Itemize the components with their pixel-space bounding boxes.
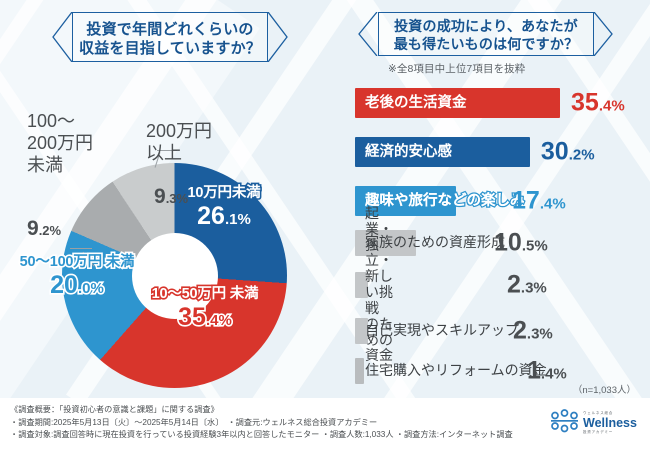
pie-label-100-200man: 100〜 200万円 未満 9.2% [27, 90, 103, 262]
bar-label: 起業・独立・新しい挑戦 のための資金 [365, 206, 393, 364]
bar-value-dec: .3% [527, 326, 553, 343]
bar-row: 経済的安心感30.2% [355, 137, 530, 167]
footer: 《調査概要：「投資初心者の意識と課題」に関する調査》 ・調査期間:2025年5月… [0, 398, 650, 450]
pie-value-int-200man: 9 [154, 185, 166, 208]
pie-label-under10man-value: 26.1% [165, 203, 283, 231]
bar-fill: 経済的安心感 [355, 137, 530, 167]
bar-value-dec: .4% [540, 196, 566, 213]
pie-label-under10man: 10万円未満 26.1% [165, 186, 283, 230]
svg-text:ウェルネス総合: ウェルネス総合 [583, 410, 613, 415]
bar-value: 10.5% [494, 229, 548, 258]
bar-value-int: 10 [494, 229, 522, 257]
svg-text:投資アカデミー: 投資アカデミー [583, 429, 613, 434]
pie-label-under10man-name: 10万円未満 [165, 186, 283, 202]
pie-value-int-10man: 26 [197, 202, 225, 230]
bar-label: 自己実現やスキルアップ [365, 323, 519, 339]
bar-value-dec: .4% [541, 366, 567, 383]
pie-label-100-200man-name: 100〜 200万円 未満 [27, 110, 103, 177]
right-banner-left-bracket [358, 12, 386, 56]
bar-value-int: 17 [512, 187, 540, 215]
pie-label-200man-over-name: 200万円 以上 [146, 120, 212, 165]
infographic-canvas: 投資で年間どれくらいの 収益を目指していますか？ 投資の成功により、あなたが 最… [0, 0, 650, 450]
survey-overview-text: 《調査概要：「投資初心者の意識と課題」に関する調査》 ・調査期間:2025年5月… [10, 404, 513, 442]
bar-fill: 老後の生活資金 [355, 88, 560, 118]
bar-fill: 自己実現やスキルアップ [355, 318, 368, 344]
bar-fill: 住宅購入やリフォームの資金 [355, 358, 364, 384]
bar-value: 35.4% [571, 89, 625, 118]
bar-value-dec: .3% [521, 280, 547, 297]
left-panel-title: 投資で年間どれくらいの 収益を目指していますか？ [73, 13, 267, 58]
bar-value: 2.3% [507, 271, 547, 300]
bar-fill: 起業・独立・新しい挑戦 のための資金 [355, 272, 368, 298]
pie-label-50-100man: 50〜100万円 未満 20.0% [18, 255, 136, 299]
left-panel-title-banner: 投資で年間どれくらいの 収益を目指していますか？ [72, 12, 268, 62]
right-banner-right-bracket [594, 12, 622, 56]
pie-value-int-50man: 35 [178, 303, 206, 331]
left-banner-left-bracket [52, 12, 82, 62]
bar-row: 老後の生活資金35.4% [355, 88, 560, 118]
pie-label-10-50man-value: 35.4% [140, 304, 270, 332]
pie-value-dec-100man2: .0% [78, 280, 104, 297]
bar-row: 自己実現やスキルアップ2.3% [355, 318, 368, 344]
bar-value-int: 35 [571, 89, 599, 117]
bar-row: 起業・独立・新しい挑戦 のための資金2.3% [355, 272, 368, 298]
sample-size-note: （n=1,033人） [573, 382, 636, 396]
bar-value-int: 30 [541, 138, 569, 166]
bar-value: 17.4% [512, 187, 566, 216]
pie-label-50-100man-value: 20.0% [18, 272, 136, 300]
pie-label-10-50man: 10〜50万円 未満 35.4% [140, 287, 270, 331]
wellness-logo-text: Wellness [583, 416, 637, 430]
bar-value: 2.3% [513, 317, 553, 346]
bar-value-int: 2 [513, 317, 527, 345]
pie-label-50-100man-name: 50〜100万円 未満 [18, 255, 136, 271]
bar-value-dec: .5% [522, 238, 548, 255]
bar-chart-note: ※全8項目中上位7項目を抜粋 [388, 61, 525, 76]
bar-label: 住宅購入やリフォームの資金 [365, 363, 547, 379]
pie-value-dec-10man: .1% [225, 211, 251, 228]
bar-label: 老後の生活資金 [365, 95, 467, 111]
right-panel-title-banner: 投資の成功により、あなたが 最も得たいものは何ですか？ [378, 12, 594, 56]
left-banner-right-bracket [268, 12, 298, 62]
bar-label: 経済的安心感 [365, 144, 452, 160]
bar-row: 住宅購入やリフォームの資金1.4% [355, 358, 364, 384]
bar-value: 1.4% [527, 357, 567, 386]
pie-label-10-50man-name: 10〜50万円 未満 [140, 287, 270, 303]
pie-label-100-200man-value: 9.2% [27, 197, 103, 243]
pie-value-int-100man2: 20 [50, 271, 78, 299]
bar-value-dec: .4% [599, 98, 625, 115]
bar-value: 30.2% [541, 138, 595, 167]
bar-value-int: 2 [507, 271, 521, 299]
pie-value-int-100man: 9 [27, 217, 39, 240]
bar-value-dec: .2% [569, 147, 595, 164]
right-panel-title: 投資の成功により、あなたが 最も得たいものは何ですか？ [379, 13, 593, 54]
pie-value-dec-100man: .2% [39, 223, 61, 238]
bar-value-int: 1 [527, 357, 541, 385]
wellness-logo: Wellness ウェルネス総合 投資アカデミー [548, 407, 640, 437]
pie-value-dec-50man: .4% [206, 312, 232, 329]
